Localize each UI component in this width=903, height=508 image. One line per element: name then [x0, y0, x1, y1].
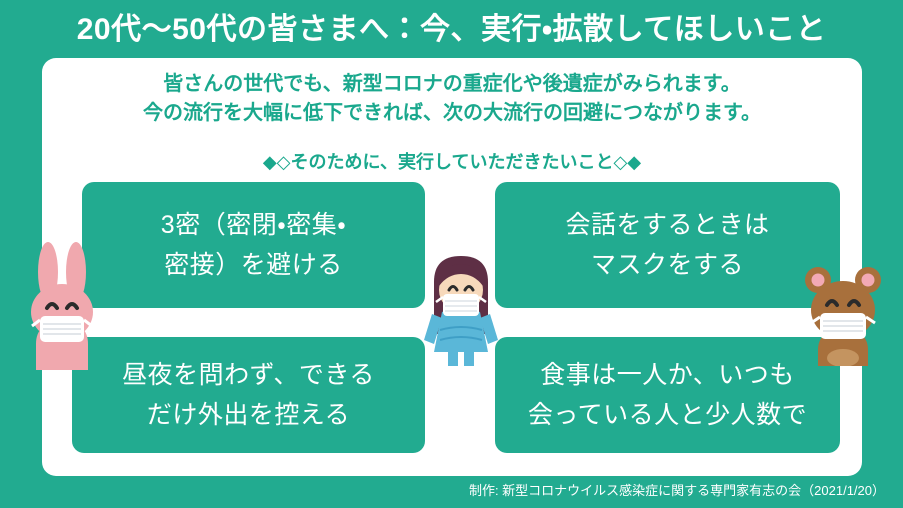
lead-line-1: 皆さんの世代でも、新型コロナの重症化や後遺症がみられます。 — [42, 70, 862, 99]
page-title: 20代〜50代の皆さまへ：今、実行・拡散してほしいこと — [0, 8, 903, 52]
tip-3-line-2: だけ外出を控える — [122, 395, 375, 435]
credit-line: 制作: 新型コロナウイルス感染症に関する専門家有志の会（2021/1/20） — [0, 480, 885, 499]
tip-4-line-1: 食事は一人か、いつも — [528, 355, 807, 395]
tip-4-line-2: 会っている人と少人数で — [528, 395, 807, 435]
tip-box-avoid-3-cs: 3密（密閉・密集・ 密接）を避ける — [82, 182, 425, 308]
tip-1-line-2: 密接）を避ける — [161, 245, 346, 285]
poster-root: 20代〜50代の皆さまへ：今、実行・拡散してほしいこと 皆さんの世代でも、新型コ… — [0, 0, 903, 508]
lead-line-2: 今の流行を大幅に低下できれば、次の大流行の回避につながります。 — [42, 99, 862, 128]
tip-1-line-1: 3密（密閉・密集・ — [161, 205, 346, 245]
tip-box-refrain-from-going-out: 昼夜を問わず、できる だけ外出を控える — [72, 337, 425, 453]
subheading: ◆◇そのために、実行していただきたいこと◇◆ — [42, 148, 862, 174]
tip-box-eat-alone-or-small-groups: 食事は一人か、いつも 会っている人と少人数で — [495, 337, 840, 453]
girl-character-icon — [418, 252, 504, 366]
bear-character-icon — [798, 258, 890, 366]
tip-2-line-2: マスクをする — [565, 245, 769, 285]
tip-box-wear-mask-when-talking: 会話をするときは マスクをする — [495, 182, 840, 308]
tip-3-line-1: 昼夜を問わず、できる — [122, 355, 375, 395]
lead-paragraph: 皆さんの世代でも、新型コロナの重症化や後遺症がみられます。 今の流行を大幅に低下… — [42, 70, 862, 128]
rabbit-character-icon — [14, 240, 110, 370]
tip-2-line-1: 会話をするときは — [565, 205, 769, 245]
